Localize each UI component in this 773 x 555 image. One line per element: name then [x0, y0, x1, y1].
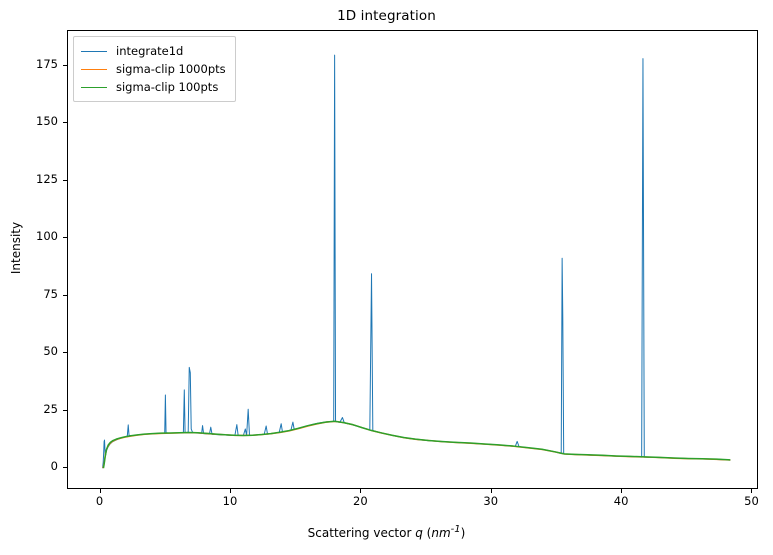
x-axis-label-exponent: -1	[451, 524, 461, 535]
legend-item-label: sigma-clip 1000pts	[116, 60, 226, 78]
legend-item-1: sigma-clip 1000pts	[81, 60, 226, 78]
y-tick-label: 25	[6, 402, 58, 416]
x-tick-mark	[360, 489, 361, 493]
matplotlib-figure: 1D integration Intensity Scattering vect…	[0, 0, 773, 555]
y-tick-label: 0	[6, 459, 58, 473]
x-axis-label-symbol: q	[415, 526, 423, 540]
y-tick-label: 125	[6, 172, 58, 186]
x-tick-label: 40	[601, 494, 641, 508]
x-tick-label: 20	[340, 494, 380, 508]
legend-item-label: integrate1d	[116, 42, 183, 60]
x-tick-mark	[751, 489, 752, 493]
series-line-2	[103, 421, 730, 468]
x-axis-label-post: )	[461, 526, 466, 540]
x-tick-mark	[621, 489, 622, 493]
legend-item-2: sigma-clip 100pts	[81, 78, 226, 96]
y-tick-label: 175	[6, 57, 58, 71]
x-axis-label: Scattering vector q (nm-1)	[0, 524, 773, 540]
x-tick-label: 50	[731, 494, 771, 508]
legend-swatch-icon	[81, 51, 107, 52]
legend: integrate1dsigma-clip 1000ptssigma-clip …	[73, 36, 236, 102]
x-tick-label: 10	[210, 494, 250, 508]
x-axis-label-pre: Scattering vector	[308, 526, 416, 540]
y-tick-label: 75	[6, 287, 58, 301]
legend-swatch-icon	[81, 69, 107, 70]
series-line-1	[103, 421, 730, 468]
y-tick-label: 50	[6, 344, 58, 358]
x-tick-label: 0	[80, 494, 120, 508]
x-tick-mark	[230, 489, 231, 493]
x-axis-label-unit: nm	[431, 526, 450, 540]
legend-swatch-icon	[81, 87, 107, 88]
y-tick-label: 150	[6, 114, 58, 128]
x-tick-label: 30	[471, 494, 511, 508]
x-tick-mark	[100, 489, 101, 493]
legend-item-label: sigma-clip 100pts	[116, 78, 218, 96]
y-tick-label: 100	[6, 229, 58, 243]
page-title: 1D integration	[0, 8, 773, 24]
legend-item-0: integrate1d	[81, 42, 226, 60]
x-tick-mark	[491, 489, 492, 493]
series-line-0	[103, 55, 731, 468]
